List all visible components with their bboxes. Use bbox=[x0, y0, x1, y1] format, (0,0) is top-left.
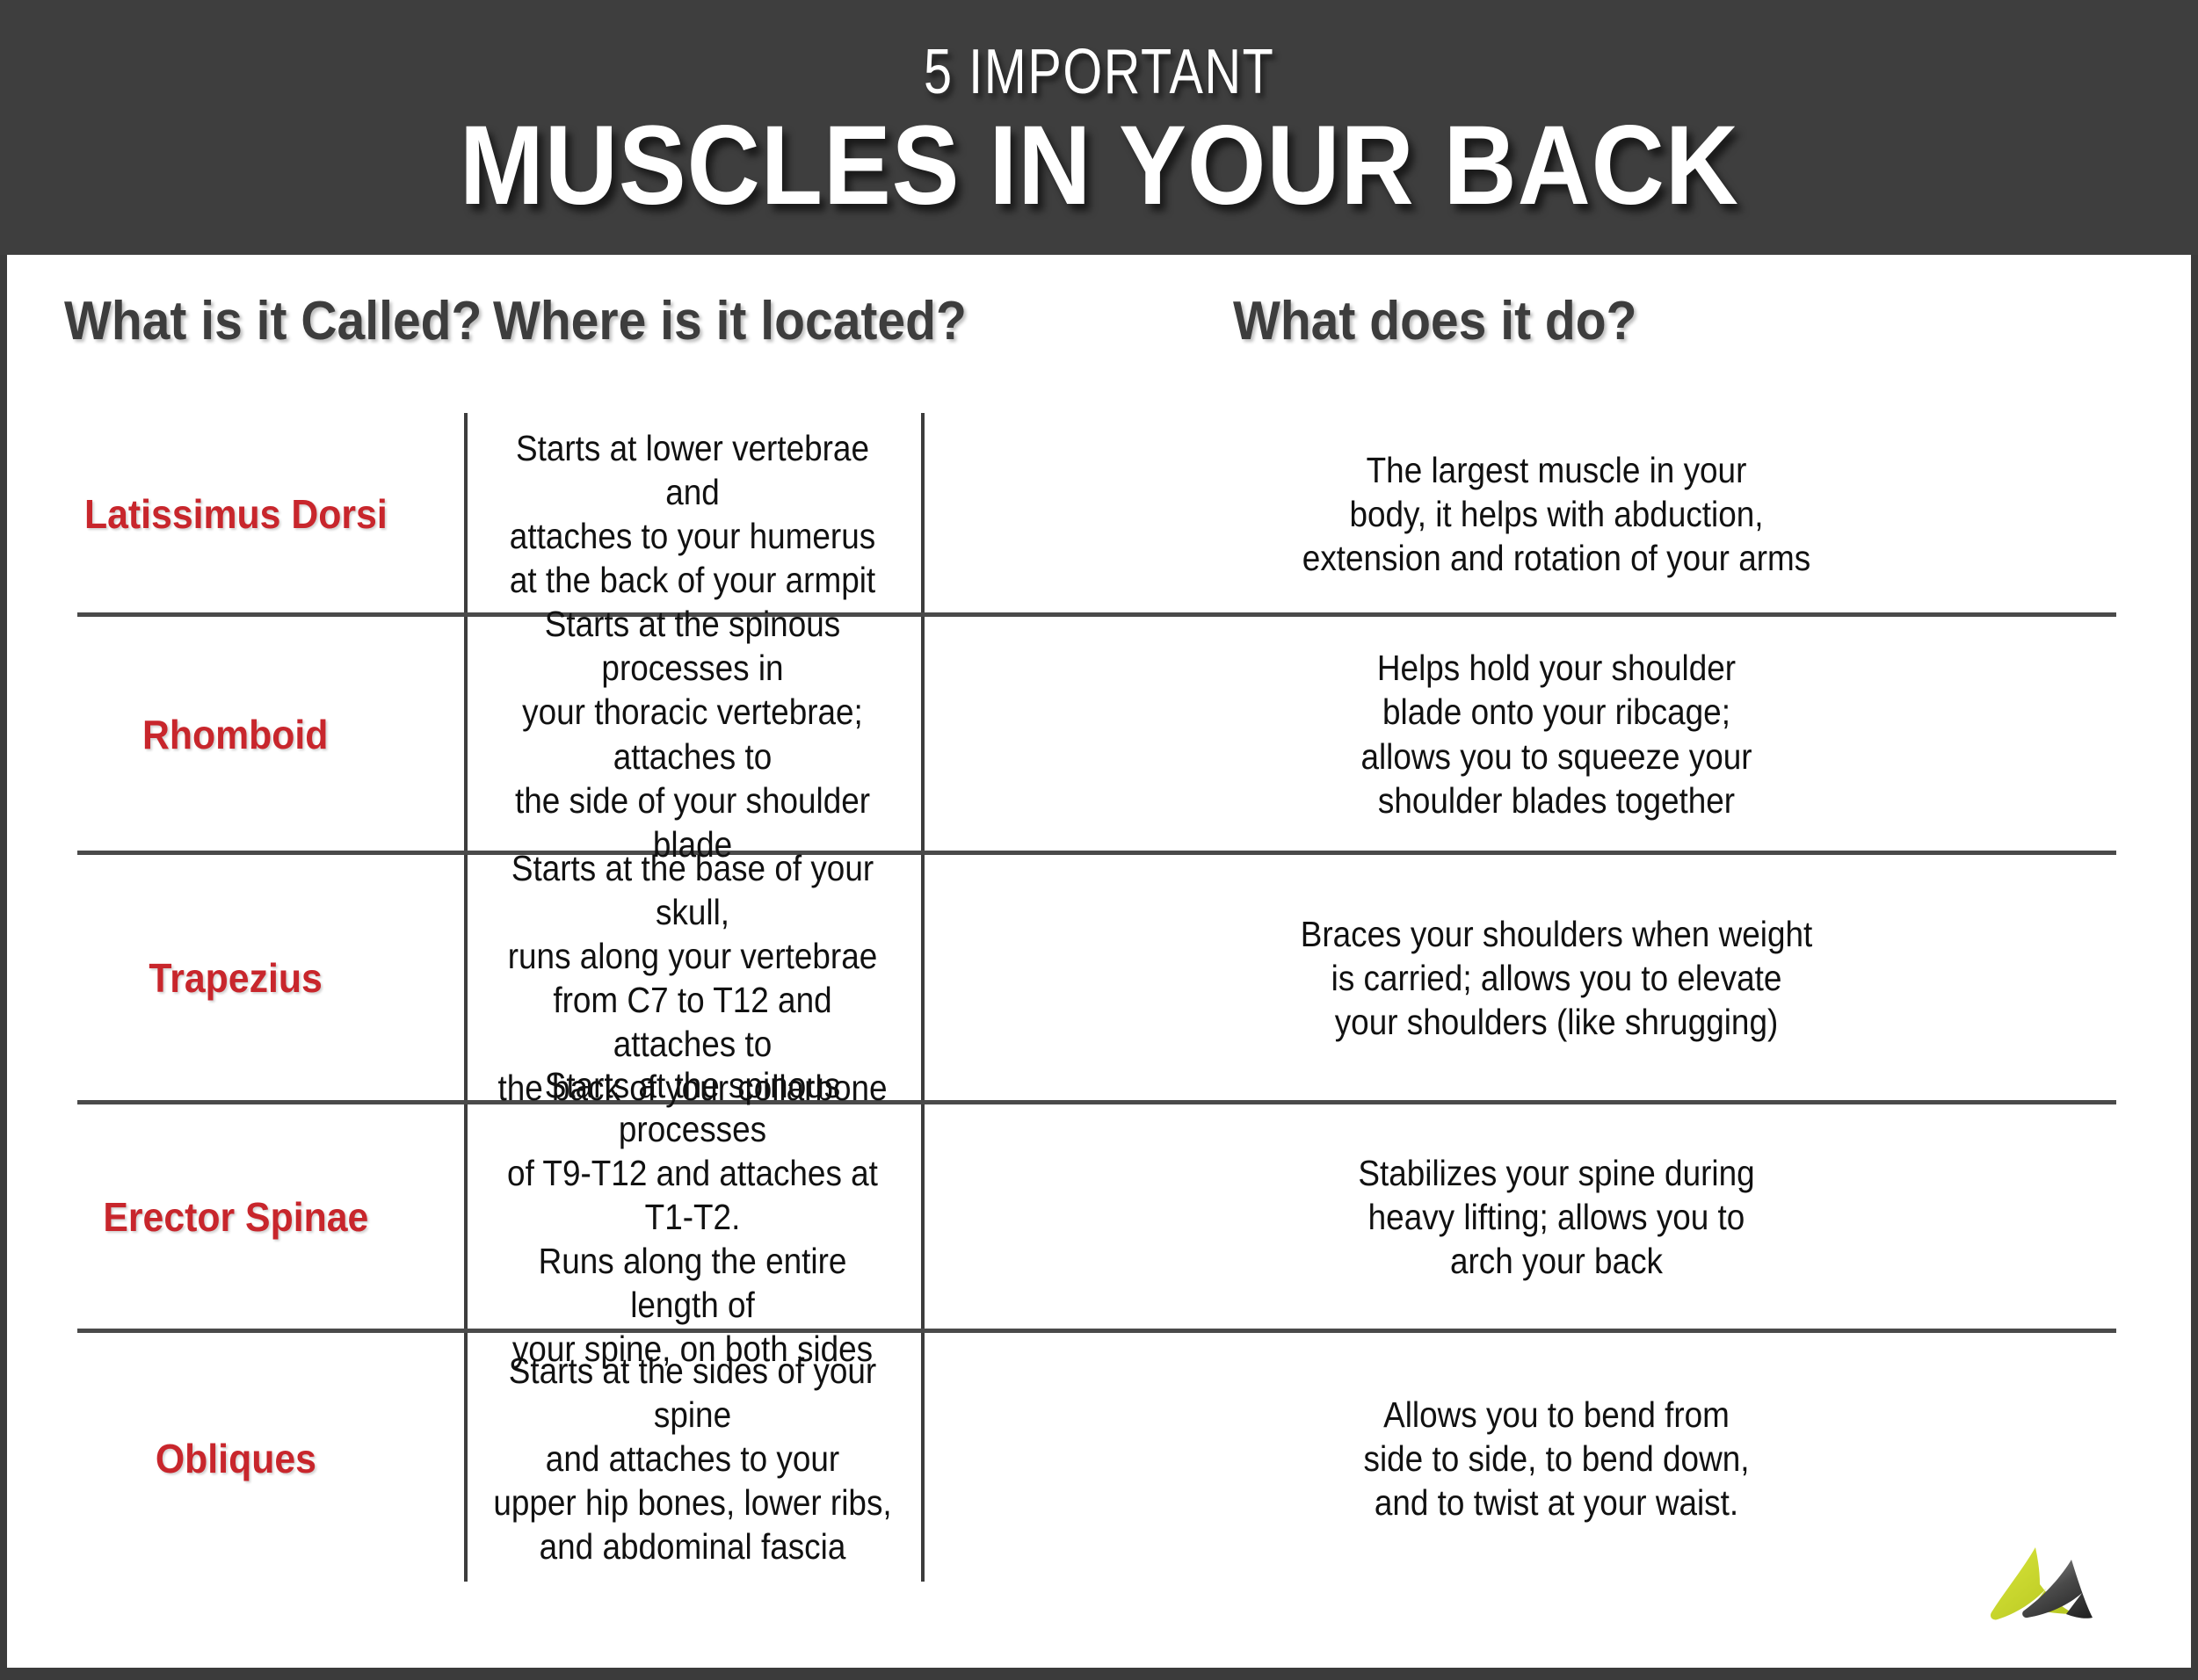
cell-muscle-name: Rhomboid bbox=[7, 615, 464, 853]
function-text: Braces your shoulders when weight is car… bbox=[1201, 912, 1912, 1044]
cell-location: Starts at the sides of your spine and at… bbox=[464, 1331, 921, 1586]
cell-muscle-name: Obliques bbox=[7, 1331, 464, 1586]
table-body: Latissimus Dorsi Starts at lower vertebr… bbox=[7, 413, 2191, 1586]
header-eyebrow: 5 IMPORTANT bbox=[924, 40, 1275, 104]
muscle-name-label: Rhomboid bbox=[142, 711, 328, 758]
muscle-name-label: Erector Spinae bbox=[103, 1193, 368, 1241]
cell-location: Starts at the spinous processes in your … bbox=[464, 615, 921, 853]
cell-muscle-name: Trapezius bbox=[7, 853, 464, 1103]
infographic-root: 5 IMPORTANT MUSCLES IN YOUR BACK What is… bbox=[0, 0, 2198, 1680]
function-text: Allows you to bend from side to side, to… bbox=[1201, 1393, 1912, 1524]
location-text: Starts at the spinous processes in your … bbox=[493, 602, 892, 865]
function-text: The largest muscle in your body, it help… bbox=[1201, 448, 1912, 580]
cell-muscle-name: Erector Spinae bbox=[7, 1103, 464, 1331]
cell-muscle-name: Latissimus Dorsi bbox=[7, 413, 464, 615]
table-row: Erector Spinae Starts at the spinous pro… bbox=[7, 1103, 2191, 1331]
muscle-name-label: Latissimus Dorsi bbox=[84, 490, 388, 538]
page-title: MUSCLES IN YOUR BACK bbox=[460, 109, 1739, 224]
table-row: Obliques Starts at the sides of your spi… bbox=[7, 1331, 2191, 1586]
brand-logo-icon bbox=[1987, 1540, 2136, 1641]
cell-function: The largest muscle in your body, it help… bbox=[921, 413, 2191, 615]
location-text: Starts at the sides of your spine and at… bbox=[493, 1349, 892, 1568]
location-text: Starts at lower vertebrae and attaches t… bbox=[493, 426, 892, 602]
cell-function: Stabilizes your spine during heavy lifti… bbox=[921, 1103, 2191, 1331]
function-text: Helps hold your shoulder blade onto your… bbox=[1201, 646, 1912, 822]
content-sheet: What is it Called? Where is it located? … bbox=[7, 255, 2191, 1668]
muscle-name-label: Trapezius bbox=[149, 954, 322, 1002]
cell-function: Helps hold your shoulder blade onto your… bbox=[921, 615, 2191, 853]
header-banner: 5 IMPORTANT MUSCLES IN YOUR BACK bbox=[0, 0, 2198, 255]
function-text: Stabilizes your spine during heavy lifti… bbox=[1201, 1151, 1912, 1283]
table-row: Rhomboid Starts at the spinous processes… bbox=[7, 615, 2191, 853]
cell-location: Starts at the spinous processes of T9-T1… bbox=[464, 1103, 921, 1331]
location-text: Starts at the spinous processes of T9-T1… bbox=[493, 1063, 892, 1371]
table-row: Latissimus Dorsi Starts at lower vertebr… bbox=[7, 413, 2191, 615]
table-row: Trapezius Starts at the base of your sku… bbox=[7, 853, 2191, 1103]
cell-function: Braces your shoulders when weight is car… bbox=[921, 853, 2191, 1103]
cell-location: Starts at lower vertebrae and attaches t… bbox=[464, 413, 921, 615]
muscle-name-label: Obliques bbox=[155, 1435, 316, 1482]
